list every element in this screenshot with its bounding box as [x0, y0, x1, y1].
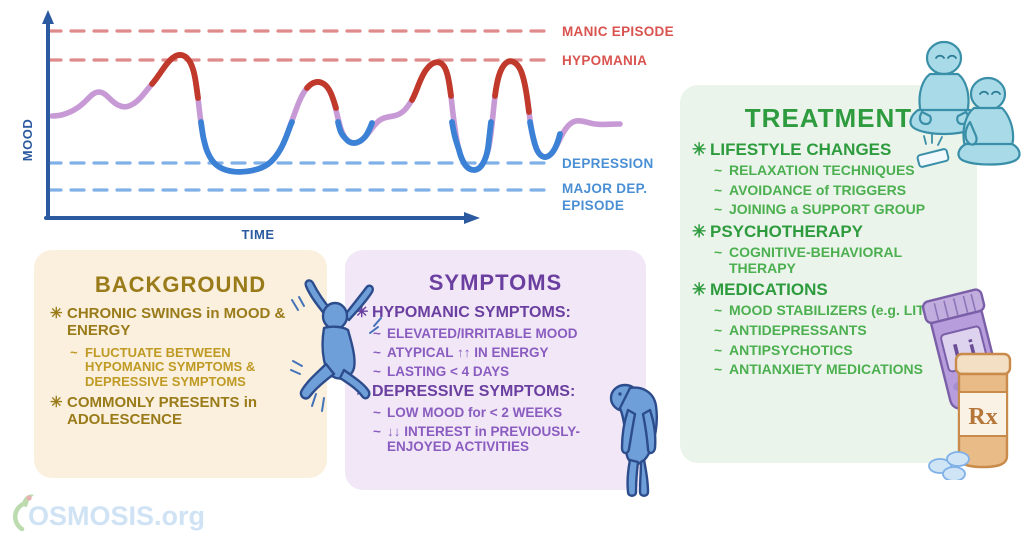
list-item: ~ FLUCTUATE BETWEEN HYPOMANIC SYMPTOMS &…: [70, 346, 313, 390]
list-item: ✳ PSYCHOTHERAPY: [692, 222, 967, 241]
tilde-icon: ~: [714, 323, 729, 339]
list-item-text: ELEVATED/IRRITABLE MOOD: [387, 326, 636, 341]
tilde-icon: ~: [714, 183, 729, 199]
list-item: ~ COGNITIVE-BEHAVIORAL THERAPY: [714, 245, 967, 276]
tilde-icon: ~: [714, 343, 729, 359]
pill-bottles-icon: Li Rx: [918, 288, 1024, 480]
list-item: ~ LOW MOOD for < 2 WEEKS: [373, 405, 636, 420]
y-axis-arrow: [42, 10, 54, 24]
threshold-lines: [48, 31, 552, 190]
list-item-text: PSYCHOTHERAPY: [710, 222, 967, 241]
list-item: ~ ELEVATED/IRRITABLE MOOD: [373, 326, 636, 341]
prescription-label: Rx: [968, 404, 997, 430]
tilde-icon: ~: [70, 346, 85, 361]
threshold-label-major-depressive-episode: MAJOR DEP.EPISODE: [562, 181, 647, 213]
asterisk-icon: ✳: [50, 306, 67, 323]
list-item: ~ ↓↓ INTEREST in PREVIOUSLY-ENJOYED ACTI…: [373, 424, 636, 454]
logo-text: OSMOSIS.org: [28, 501, 205, 531]
tilde-icon: ~: [373, 424, 387, 439]
mood-curve-euthymic-base: [52, 55, 620, 172]
tilde-icon: ~: [714, 202, 729, 218]
threshold-label-hypomania: HYPOMANIA: [562, 53, 647, 68]
asterisk-icon: ✳: [692, 140, 710, 159]
list-item: ✳ HYPOMANIC SYMPTOMS:: [355, 304, 636, 322]
osmosis-logo[interactable]: OSMOSIS.org: [8, 492, 208, 534]
x-axis-label: TIME: [241, 227, 274, 242]
list-item-text: CHRONIC SWINGS in MOOD & ENERGY: [67, 306, 313, 340]
phone-icon: [917, 134, 949, 167]
list-item: ~ AVOIDANCE of TRIGGERS: [714, 183, 967, 199]
list-item: ✳ CHRONIC SWINGS in MOOD & ENERGY: [50, 306, 313, 340]
mood-chart-svg: MOOD TIME MANIC EPISODE HYPOMANIA DEPRES…: [0, 0, 700, 250]
list-item: ~ LASTING < 4 DAYS: [373, 364, 636, 379]
list-item-text: DEPRESSIVE SYMPTOMS:: [372, 383, 636, 401]
threshold-label-manic-episode: MANIC EPISODE: [562, 24, 674, 39]
list-item-text: JOINING a SUPPORT GROUP: [729, 202, 967, 218]
meditating-people-icon: [896, 26, 1024, 172]
tilde-icon: ~: [714, 303, 729, 319]
mood-curve-depressed-4: [530, 122, 560, 157]
mood-curve: [52, 55, 620, 172]
mood-chart: MOOD TIME MANIC EPISODE HYPOMANIA DEPRES…: [0, 0, 700, 250]
logo-arc-icon: [15, 503, 26, 529]
asterisk-icon: ✳: [692, 222, 710, 241]
mood-curve-depressed-2: [338, 122, 372, 143]
list-item-text: HYPOMANIC SYMPTOMS:: [372, 304, 636, 322]
mood-curve-hypomanic-3: [412, 62, 451, 100]
list-item: ✳ DEPRESSIVE SYMPTOMS:: [355, 383, 636, 401]
list-item-text: COMMONLY PRESENTS in ADOLESCENCE: [67, 395, 313, 429]
list-item-text: ATYPICAL ↑↑ IN ENERGY: [387, 345, 636, 360]
asterisk-icon: ✳: [692, 280, 710, 299]
slouching-person-icon: [598, 376, 690, 498]
mood-curve-hypomanic-4: [495, 61, 529, 112]
y-axis-label: MOOD: [20, 119, 35, 161]
tilde-icon: ~: [714, 163, 729, 179]
list-item: ~ ATYPICAL ↑↑ IN ENERGY: [373, 345, 636, 360]
loose-pills-icon: [929, 452, 969, 480]
tilde-icon: ~: [714, 362, 729, 378]
threshold-label-depression: DEPRESSION: [562, 156, 654, 171]
jumping-person-icon: [282, 278, 386, 418]
x-axis-arrow: [464, 212, 480, 224]
list-item: ~ JOINING a SUPPORT GROUP: [714, 202, 967, 218]
list-item-text: AVOIDANCE of TRIGGERS: [729, 183, 967, 199]
tilde-icon: ~: [714, 245, 729, 261]
list-item-text: FLUCTUATE BETWEEN HYPOMANIC SYMPTOMS & D…: [85, 346, 313, 390]
list-item: ✳ COMMONLY PRESENTS in ADOLESCENCE: [50, 395, 313, 429]
list-item-text: COGNITIVE-BEHAVIORAL THERAPY: [729, 245, 967, 276]
chart-axes: [42, 10, 480, 224]
asterisk-icon: ✳: [50, 395, 67, 412]
panel-symptoms-title: SYMPTOMS: [345, 250, 646, 296]
